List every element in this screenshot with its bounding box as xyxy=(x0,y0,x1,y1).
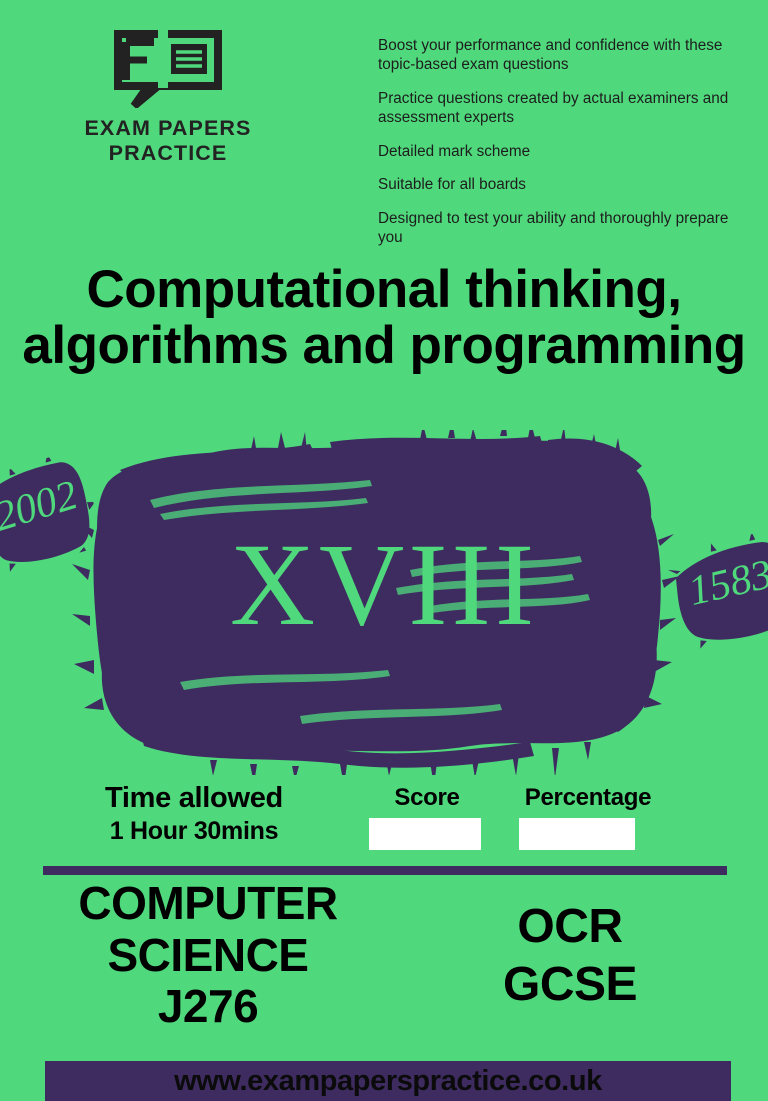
feature-item: Boost your performance and confidence wi… xyxy=(378,36,740,75)
page-title: Computational thinking, algorithms and p… xyxy=(0,262,768,374)
percentage-label: Percentage xyxy=(508,784,668,812)
score-input[interactable] xyxy=(369,818,481,850)
subject-block: COMPUTER SCIENCE J276 xyxy=(18,878,398,1033)
exam-board-block: OCR GCSE xyxy=(420,898,720,1013)
time-allowed-value: 1 Hour 30mins xyxy=(44,817,344,846)
percentage-field-group: Percentage xyxy=(508,784,668,850)
subject-code: J276 xyxy=(18,981,398,1033)
exam-cover-page: EXAM PAPERS PRACTICE Boost your performa… xyxy=(0,0,768,1101)
percentage-input[interactable] xyxy=(519,818,635,850)
score-field-group: Score xyxy=(368,784,486,850)
roman-numeral-badge: XVIII xyxy=(0,430,768,775)
feature-item: Suitable for all boards xyxy=(378,175,740,194)
website-url-bar[interactable]: www.exampaperspractice.co.uk xyxy=(45,1061,731,1101)
time-allowed-label: Time allowed xyxy=(44,782,344,815)
feature-item: Designed to test your ability and thorou… xyxy=(378,209,740,248)
feature-item: Practice questions created by actual exa… xyxy=(378,89,740,128)
time-allowed-block: Time allowed 1 Hour 30mins xyxy=(44,782,344,846)
feature-item: Detailed mark scheme xyxy=(378,142,740,161)
website-url-text: www.exampaperspractice.co.uk xyxy=(174,1065,602,1098)
feature-list: Boost your performance and confidence wi… xyxy=(378,36,740,261)
subject-line-2: SCIENCE xyxy=(18,930,398,982)
section-divider xyxy=(43,866,727,875)
subject-line-1: COMPUTER xyxy=(18,878,398,930)
roman-numeral-text: XVIII xyxy=(0,526,768,644)
speech-bubble-document-icon xyxy=(114,30,222,108)
qualification-level: GCSE xyxy=(420,956,720,1014)
exam-meta-row: Time allowed 1 Hour 30mins Score Percent… xyxy=(0,782,768,856)
exam-board-name: OCR xyxy=(420,898,720,956)
brand-wordmark: EXAM PAPERS PRACTICE xyxy=(28,116,308,166)
brand-logo: EXAM PAPERS PRACTICE xyxy=(28,30,308,166)
score-label: Score xyxy=(368,784,486,812)
